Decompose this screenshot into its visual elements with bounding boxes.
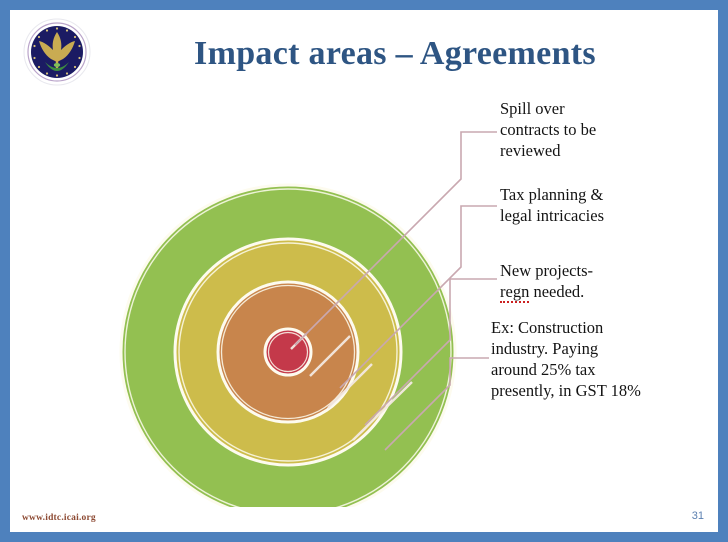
- callout-line: industry. Paying: [491, 338, 686, 359]
- callout-line: reviewed: [500, 140, 675, 161]
- slide-frame: Impact areas – Agreements: [0, 0, 728, 542]
- callout-line: Ex: Construction: [491, 317, 686, 338]
- callout-line: around 25% tax: [491, 359, 686, 380]
- callout-tax-planning: Tax planning & legal intricacies: [500, 184, 675, 226]
- callout-spill-over-contracts: Spill over contracts to be reviewed: [500, 98, 675, 161]
- callout-line-rest: needed.: [529, 282, 584, 301]
- footer-band: [10, 507, 718, 532]
- misspelled-word: regn: [500, 282, 529, 303]
- callout-line: New projects-: [500, 260, 675, 281]
- page-number: 31: [692, 510, 704, 522]
- footer-url[interactable]: www.idtc.icai.org: [22, 513, 96, 523]
- callout-line: legal intricacies: [500, 205, 675, 226]
- callout-construction-example: Ex: Construction industry. Paying around…: [491, 317, 686, 401]
- slide-canvas: Impact areas – Agreements: [10, 10, 718, 532]
- callout-line: presently, in GST 18%: [491, 380, 686, 401]
- callout-line: regn needed.: [500, 281, 675, 302]
- callout-line: contracts to be: [500, 119, 675, 140]
- callout-line: Spill over: [500, 98, 675, 119]
- callout-line: Tax planning &: [500, 184, 675, 205]
- callout-new-projects: New projects- regn needed.: [500, 260, 675, 302]
